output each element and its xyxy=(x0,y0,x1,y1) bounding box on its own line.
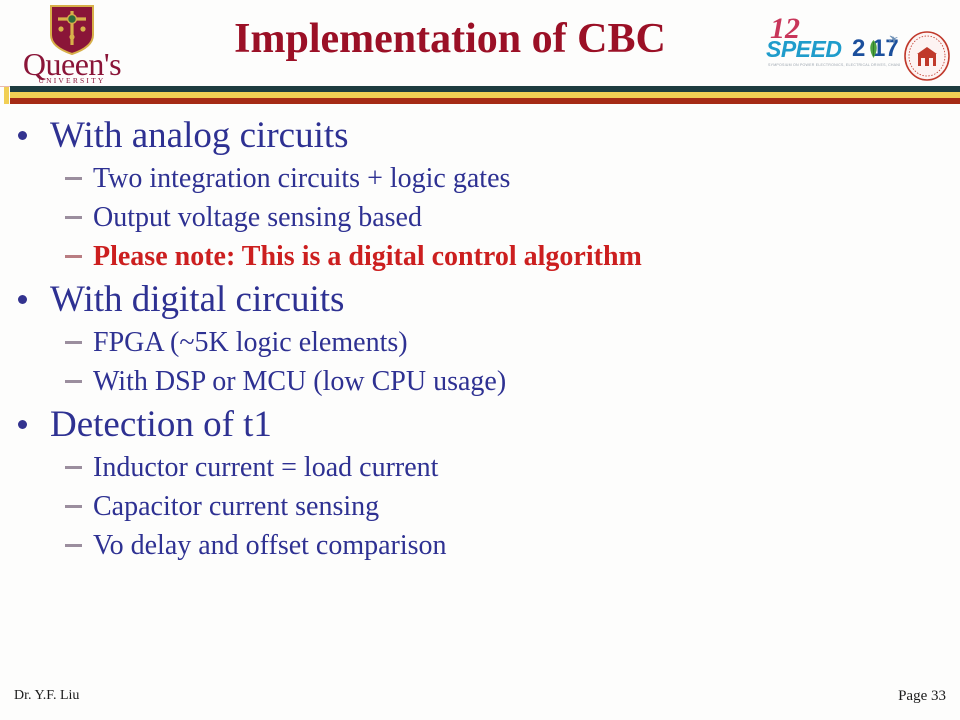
bullet-dot-icon xyxy=(18,295,27,304)
bullet-dash-icon xyxy=(65,505,82,508)
header-divider xyxy=(0,86,960,106)
bullet-group: Detection of t1 Inductor current = load … xyxy=(0,401,960,565)
queens-subtitle: UNIVERSITY xyxy=(12,76,132,85)
slide-header: Queen's UNIVERSITY Implementation of CBC… xyxy=(0,0,960,86)
bullet-level2-label: Vo delay and offset comparison xyxy=(93,526,447,565)
bullet-level2: FPGA (~5K logic elements) xyxy=(0,323,960,362)
speed-2017-logo: 12 SPEED 2 17 ✈ SYMPOSIUM ON POWER ELECT… xyxy=(766,14,901,76)
divider-stripe-red xyxy=(10,98,960,104)
bullet-group: With digital circuits FPGA (~5K logic el… xyxy=(0,276,960,401)
slide-body: With analog circuits Two integration cir… xyxy=(0,112,960,565)
bullet-level2: Vo delay and offset comparison xyxy=(0,526,960,565)
speed-wordmark: SPEED xyxy=(766,38,841,61)
bullet-level2: Inductor current = load current xyxy=(0,448,960,487)
bullet-group: With analog circuits Two integration cir… xyxy=(0,112,960,276)
bullet-level2-label: Output voltage sensing based xyxy=(93,198,422,237)
slide-canvas: Queen's UNIVERSITY Implementation of CBC… xyxy=(0,0,960,720)
bullet-level1: With digital circuits xyxy=(0,276,960,323)
bullet-level2: Two integration circuits + logic gates xyxy=(0,159,960,198)
bullet-level2-label: FPGA (~5K logic elements) xyxy=(93,323,408,362)
bullet-dot-icon xyxy=(18,420,27,429)
page-title: Implementation of CBC xyxy=(150,14,750,64)
bullet-dash-icon xyxy=(65,177,82,180)
leaf-icon xyxy=(867,40,880,58)
footer-author: Dr. Y.F. Liu xyxy=(14,687,79,705)
bullet-level2-label: Please note: This is a digital control a… xyxy=(93,237,642,276)
bullet-dash-icon xyxy=(65,255,82,258)
bullet-level2-label: Capacitor current sensing xyxy=(93,487,379,526)
bullet-dot-icon xyxy=(18,131,27,140)
bullet-dash-icon xyxy=(65,544,82,547)
bullet-dash-icon xyxy=(65,466,82,469)
bullet-level2-label: With DSP or MCU (low CPU usage) xyxy=(93,362,506,401)
bullet-level2: Output voltage sensing based xyxy=(0,198,960,237)
bullet-level2: Capacitor current sensing xyxy=(0,487,960,526)
bullet-level1: Detection of t1 xyxy=(0,401,960,448)
bullet-level2: With DSP or MCU (low CPU usage) xyxy=(0,362,960,401)
bullet-level2-label: Two integration circuits + logic gates xyxy=(93,159,510,198)
bullet-level1-label: Detection of t1 xyxy=(50,401,272,448)
bullet-dash-icon xyxy=(65,380,82,383)
bullet-level2-label: Inductor current = load current xyxy=(93,448,438,487)
bullet-level1: With analog circuits xyxy=(0,112,960,159)
bullet-dash-icon xyxy=(65,341,82,344)
bullet-level1-label: With analog circuits xyxy=(50,112,349,159)
bullet-dash-icon xyxy=(65,216,82,219)
bullet-level1-label: With digital circuits xyxy=(50,276,344,323)
speed-tagline: SYMPOSIUM ON POWER ELECTRONICS, ELECTRIC… xyxy=(768,63,900,68)
divider-left-cap xyxy=(4,87,9,104)
footer-page-number: Page 33 xyxy=(898,687,946,705)
queens-university-logo: Queen's UNIVERSITY xyxy=(12,4,132,84)
bullet-level2-emphasis: Please note: This is a digital control a… xyxy=(0,237,960,276)
institutional-seal-icon xyxy=(903,30,951,82)
